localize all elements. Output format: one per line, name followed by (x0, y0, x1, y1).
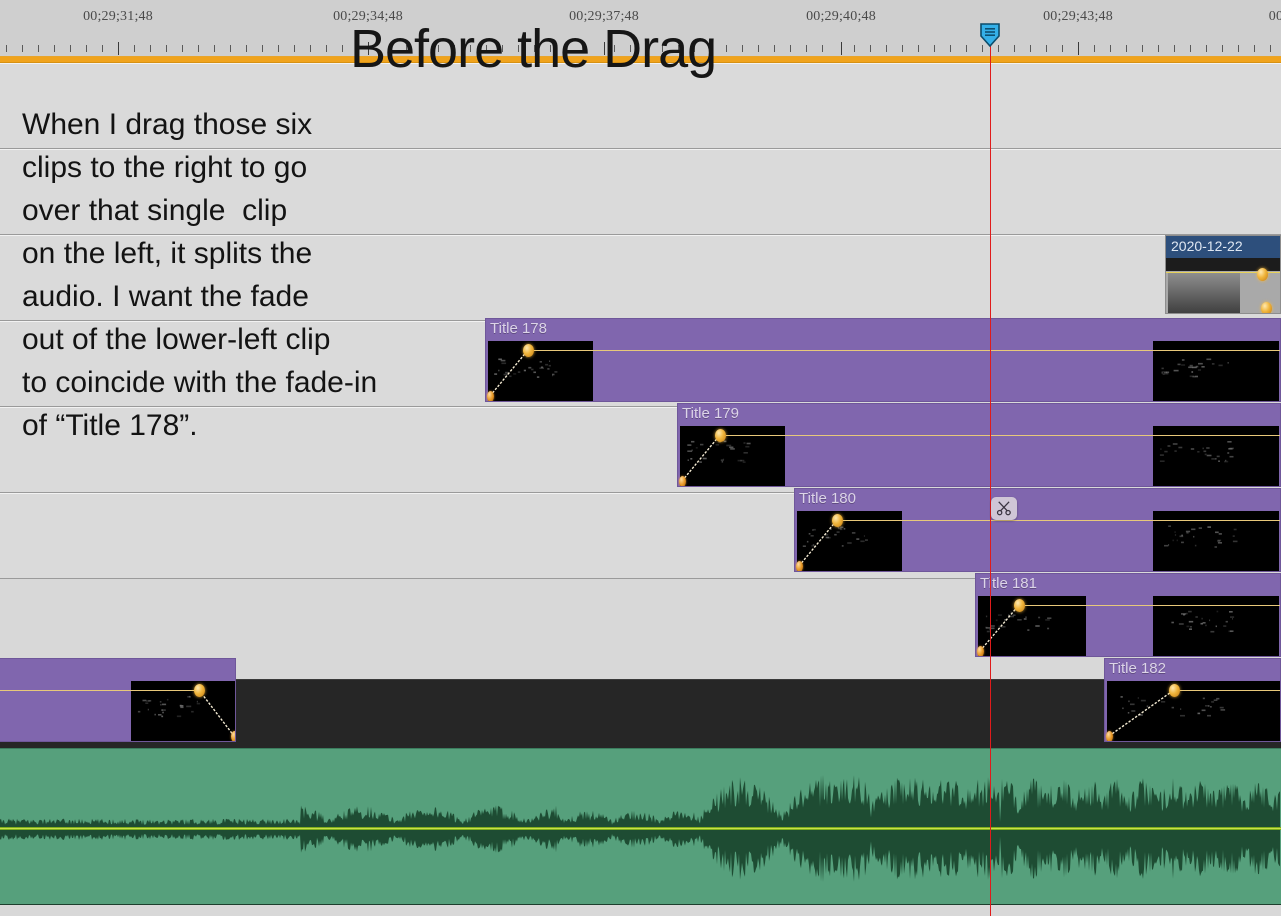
ruler-tick-minor (310, 45, 311, 52)
ruler-tick-major (118, 42, 119, 55)
headline-text: Before the Drag (350, 18, 716, 80)
timeline-editor: 00;29;31;4800;29;34;4800;29;37;4800;29;4… (0, 0, 1281, 916)
ruler-tick-minor (966, 45, 967, 52)
ruler-tick-minor (182, 45, 183, 52)
ruler-tick-major (1078, 42, 1079, 55)
fade-level-line (837, 520, 1280, 521)
fade-keyframe-handle[interactable] (194, 684, 205, 697)
clip-title-label: Title 180 (799, 490, 856, 507)
ruler-tick-minor (246, 45, 247, 52)
ruler-tick-minor (294, 45, 295, 52)
ruler-tick-minor (1270, 45, 1271, 52)
timecode-label: 00;29;43;48 (1043, 9, 1113, 25)
timecode-label: 00;29;40;48 (806, 9, 876, 25)
ruler-tick-minor (870, 45, 871, 52)
ruler-tick-minor (1062, 45, 1063, 52)
ruler-tick-minor (262, 45, 263, 52)
video-clip-dated[interactable]: 2020-12-22 (1165, 235, 1281, 314)
audio-waveform-top (0, 749, 1281, 829)
ruler-tick-minor (86, 45, 87, 52)
clip-title-label: Title 178 (490, 320, 547, 337)
timecode-label: 00 (1269, 9, 1281, 25)
fade-ramp-line (680, 433, 722, 483)
video-thumbnail-inset (1168, 273, 1240, 314)
ruler-tick-minor (1238, 45, 1239, 52)
playhead-line (990, 42, 991, 916)
fade-level-line (1174, 690, 1280, 691)
ruler-tick-minor (6, 45, 7, 52)
ruler-tick-minor (918, 45, 919, 52)
ruler-tick-minor (790, 45, 791, 52)
title-clip-181[interactable]: Title 181 (975, 573, 1281, 657)
playhead-marker-icon[interactable] (978, 23, 1002, 47)
ruler-tick-minor (1222, 45, 1223, 52)
fade-keyframe-handle[interactable] (523, 344, 534, 357)
ruler-tick-minor (150, 45, 151, 52)
ruler-tick-minor (70, 45, 71, 52)
fade-level-line (720, 435, 1280, 436)
annotation-text: When I drag those six clips to the right… (22, 103, 377, 447)
video-clip-date-label: 2020-12-22 (1171, 238, 1243, 254)
ruler-tick-minor (1046, 45, 1047, 52)
fade-keyframe-handle[interactable] (1106, 731, 1113, 742)
ruler-tick-minor (1254, 45, 1255, 52)
ruler-tick-minor (1014, 45, 1015, 52)
ruler-tick-minor (102, 45, 103, 52)
ruler-tick-minor (38, 45, 39, 52)
ruler-tick-minor (230, 45, 231, 52)
ruler-tick-minor (822, 45, 823, 52)
title-clip-lower-left[interactable] (0, 658, 236, 742)
fade-ramp-line (978, 603, 1021, 653)
ruler-tick-minor (1158, 45, 1159, 52)
fade-level-line (528, 350, 1280, 351)
fade-keyframe-handle[interactable] (832, 514, 843, 527)
audio-waveform-bottom (0, 830, 1281, 905)
ruler-tick-minor (22, 45, 23, 52)
ruler-tick-minor (742, 45, 743, 52)
ruler-tick-minor (166, 45, 167, 52)
scissors-icon[interactable] (991, 497, 1017, 520)
fade-level-line (0, 690, 199, 691)
fade-ramp-line (1107, 688, 1176, 738)
ruler-tick-minor (1190, 45, 1191, 52)
title-clip-178[interactable]: Title 178 (485, 318, 1281, 402)
fade-keyframe-handle[interactable] (1169, 684, 1180, 697)
fade-level-line (1019, 605, 1280, 606)
fade-keyframe-handle[interactable] (1014, 599, 1025, 612)
clip-title-label: Title 181 (980, 575, 1037, 592)
timecode-label: 00;29;31;48 (83, 9, 153, 25)
ruler-tick-minor (134, 45, 135, 52)
ruler-tick-minor (1206, 45, 1207, 52)
scissors-glyph (996, 500, 1013, 517)
ruler-tick-minor (806, 45, 807, 52)
ruler-tick-minor (1174, 45, 1175, 52)
ruler-tick-minor (1142, 45, 1143, 52)
fade-keyframe-handle[interactable] (231, 731, 237, 742)
fade-keyframe-handle[interactable] (487, 391, 494, 402)
fade-keyframe-handle[interactable] (796, 561, 803, 572)
fade-keyframe-handle[interactable] (715, 429, 726, 442)
ruler-tick-minor (950, 45, 951, 52)
fade-ramp-line (797, 518, 839, 568)
title-clip-179[interactable]: Title 179 (677, 403, 1281, 487)
ruler-tick-minor (774, 45, 775, 52)
video-clip-header: 2020-12-22 (1166, 236, 1280, 258)
ruler-tick-minor (214, 45, 215, 52)
fade-keyframe-handle[interactable] (679, 476, 686, 487)
clip-title-label: Title 182 (1109, 660, 1166, 677)
ruler-tick-minor (886, 45, 887, 52)
ruler-tick-minor (1110, 45, 1111, 52)
ruler-tick-minor (54, 45, 55, 52)
ruler-tick-minor (726, 45, 727, 52)
ruler-tick-major (841, 42, 842, 55)
ruler-tick-minor (934, 45, 935, 52)
ruler-tick-minor (326, 45, 327, 52)
audio-clip[interactable] (0, 748, 1281, 905)
fade-ramp-line (488, 348, 530, 398)
fade-keyframe-handle[interactable] (1257, 268, 1268, 281)
fade-keyframe-handle[interactable] (977, 646, 984, 657)
ruler-tick-minor (278, 45, 279, 52)
fade-keyframe-handle[interactable] (1261, 302, 1272, 315)
ruler-tick-minor (1126, 45, 1127, 52)
ruler-tick-minor (758, 45, 759, 52)
ruler-tick-minor (854, 45, 855, 52)
ruler-tick-minor (1030, 45, 1031, 52)
clip-title-label: Title 179 (682, 405, 739, 422)
ruler-tick-minor (902, 45, 903, 52)
ruler-tick-minor (342, 45, 343, 52)
ruler-tick-minor (198, 45, 199, 52)
ruler-tick-minor (1094, 45, 1095, 52)
title-clip-180[interactable]: Title 180 (794, 488, 1281, 572)
title-clip-182[interactable]: Title 182 (1104, 658, 1281, 742)
